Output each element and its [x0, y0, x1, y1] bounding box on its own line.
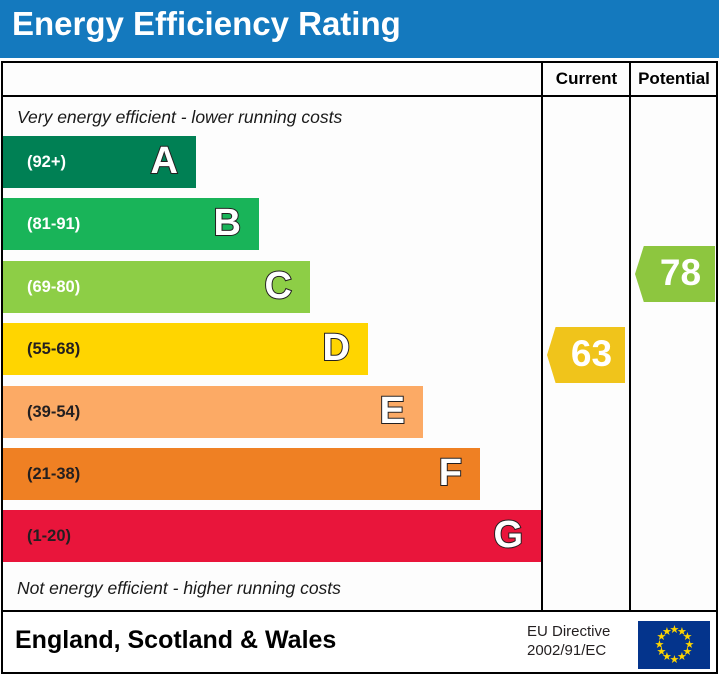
eu-star-icon: ★ — [662, 628, 671, 637]
energy-efficiency-rating-chart: Energy Efficiency Rating Current Potenti… — [0, 0, 719, 675]
eu-flag-icon: ★★★★★★★★★★★★ — [638, 621, 710, 669]
band-b: (81-91)B — [3, 198, 259, 250]
band-range-d: (55-68) — [27, 323, 80, 375]
directive-line-1: EU Directive — [527, 622, 635, 641]
current-rating-value: 63 — [547, 327, 625, 383]
band-letter-g: G — [493, 510, 523, 562]
directive-line-2: 2002/91/EC — [527, 641, 635, 660]
caption-inefficient: Not energy efficient - higher running co… — [17, 578, 527, 599]
column-header-row: Current Potential — [1, 61, 718, 97]
potential-rating-value: 78 — [635, 246, 715, 302]
title-bar: Energy Efficiency Rating — [0, 0, 719, 58]
band-letter-f: F — [439, 448, 462, 500]
band-range-b: (81-91) — [27, 198, 80, 250]
band-letter-c: C — [265, 261, 292, 313]
footer-directive-label: EU Directive 2002/91/EC — [527, 622, 635, 660]
column-divider-potential — [629, 61, 631, 612]
band-range-e: (39-54) — [27, 386, 80, 438]
bands-chart-zone: Very energy efficient - lower running co… — [3, 99, 541, 610]
caption-efficient: Very energy efficient - lower running co… — [17, 107, 527, 128]
band-f: (21-38)F — [3, 448, 480, 500]
footer-bar: England, Scotland & Wales EU Directive 2… — [1, 612, 718, 674]
column-header-potential: Potential — [631, 61, 717, 97]
band-d: (55-68)D — [3, 323, 368, 375]
band-letter-a: A — [151, 136, 178, 188]
band-letter-d: D — [323, 323, 350, 375]
band-letter-b: B — [214, 198, 241, 250]
column-divider-current — [541, 61, 543, 612]
footer-region-label: England, Scotland & Wales — [15, 626, 336, 655]
band-range-f: (21-38) — [27, 448, 80, 500]
band-list: (92+)A(81-91)B(69-80)C(55-68)D(39-54)E(2… — [3, 136, 541, 573]
band-range-g: (1-20) — [27, 510, 71, 562]
band-c: (69-80)C — [3, 261, 310, 313]
column-header-current: Current — [542, 61, 631, 97]
band-e: (39-54)E — [3, 386, 423, 438]
current-rating-arrow: 63 — [547, 327, 625, 383]
band-range-c: (69-80) — [27, 261, 80, 313]
page-title: Energy Efficiency Rating — [12, 5, 401, 43]
potential-rating-arrow: 78 — [635, 246, 715, 302]
band-range-a: (92+) — [27, 136, 66, 188]
band-letter-e: E — [380, 386, 405, 438]
band-g: (1-20)G — [3, 510, 541, 562]
band-a: (92+)A — [3, 136, 196, 188]
